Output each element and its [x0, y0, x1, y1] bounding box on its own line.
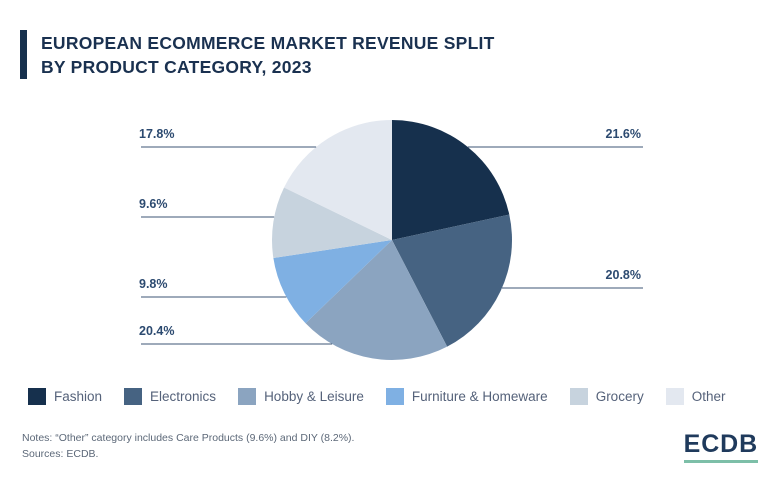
page-title: EUROPEAN ECOMMERCE MARKET REVENUE SPLIT … [20, 30, 495, 79]
pie-data-label: 21.6% [606, 127, 641, 141]
legend-color-swatch [124, 388, 142, 405]
legend-color-swatch [386, 388, 404, 405]
pie-data-label: 9.8% [139, 277, 168, 291]
pie-data-label: 9.6% [139, 197, 168, 211]
legend-item[interactable]: Other [666, 388, 726, 405]
footer-notes: Notes: “Other” category includes Care Pr… [22, 430, 354, 463]
legend-item[interactable]: Fashion [28, 388, 102, 405]
title-text: EUROPEAN ECOMMERCE MARKET REVENUE SPLIT … [41, 30, 495, 79]
chart-legend: FashionElectronicsHobby & LeisureFurnitu… [28, 388, 747, 405]
pie-chart-svg: 21.6%20.8%20.4%9.8%9.6%17.8% [0, 100, 780, 380]
legend-item[interactable]: Furniture & Homeware [386, 388, 548, 405]
legend-item[interactable]: Electronics [124, 388, 216, 405]
pie-data-label: 17.8% [139, 127, 174, 141]
sources-line: Sources: ECDB. [22, 446, 354, 462]
pie-data-label: 20.4% [139, 324, 174, 338]
ecdb-logo: ECDB [684, 432, 758, 463]
legend-color-swatch [28, 388, 46, 405]
legend-color-swatch [570, 388, 588, 405]
legend-item-label: Fashion [54, 389, 102, 404]
legend-color-swatch [666, 388, 684, 405]
legend-item-label: Other [692, 389, 726, 404]
ecdb-logo-underline [684, 460, 758, 463]
legend-item-label: Furniture & Homeware [412, 389, 548, 404]
title-accent-bar [20, 30, 27, 79]
ecdb-logo-text: ECDB [684, 432, 758, 457]
legend-item-label: Hobby & Leisure [264, 389, 364, 404]
pie-slice-group [272, 120, 512, 360]
legend-item-label: Grocery [596, 389, 644, 404]
legend-item-label: Electronics [150, 389, 216, 404]
legend-color-swatch [238, 388, 256, 405]
pie-chart: 21.6%20.8%20.4%9.8%9.6%17.8% [0, 100, 780, 380]
notes-line: Notes: “Other” category includes Care Pr… [22, 430, 354, 446]
legend-item[interactable]: Grocery [570, 388, 644, 405]
legend-item[interactable]: Hobby & Leisure [238, 388, 364, 405]
pie-data-label: 20.8% [606, 268, 641, 282]
footer-divider [0, 420, 780, 421]
